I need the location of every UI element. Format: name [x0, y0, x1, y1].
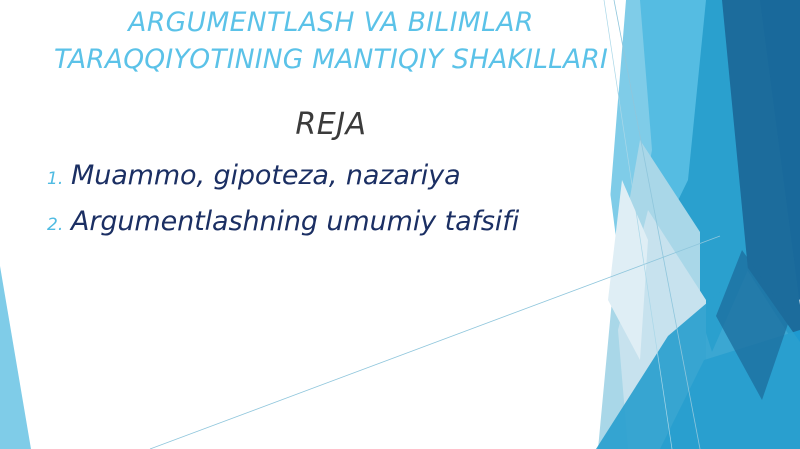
section-heading-reja: REJA	[16, 105, 646, 145]
title-line-1: ARGUMENTLASH VA BILIMLAR	[16, 4, 646, 41]
list-item: 1. Muammo, gipoteza, nazariya	[47, 157, 647, 195]
slide-title: ARGUMENTLASH VA BILIMLAR TARAQQIYOTINING…	[16, 4, 646, 78]
list-item-number: 1.	[47, 169, 71, 189]
agenda-list: 1. Muammo, gipoteza, nazariya 2. Argumen…	[47, 157, 647, 249]
list-item-label: Argumentlashning umumiy tafsifi	[71, 203, 519, 241]
slide-text-content: ARGUMENTLASH VA BILIMLAR TARAQQIYOTINING…	[0, 0, 800, 449]
list-item-number: 2.	[47, 215, 71, 235]
presentation-slide: ARGUMENTLASH VA BILIMLAR TARAQQIYOTINING…	[0, 0, 800, 449]
list-item-label: Muammo, gipoteza, nazariya	[71, 157, 461, 195]
title-line-2: TARAQQIYOTINING MANTIQIY SHAKILLARI	[16, 41, 646, 78]
list-item: 2. Argumentlashning umumiy tafsifi	[47, 203, 647, 241]
